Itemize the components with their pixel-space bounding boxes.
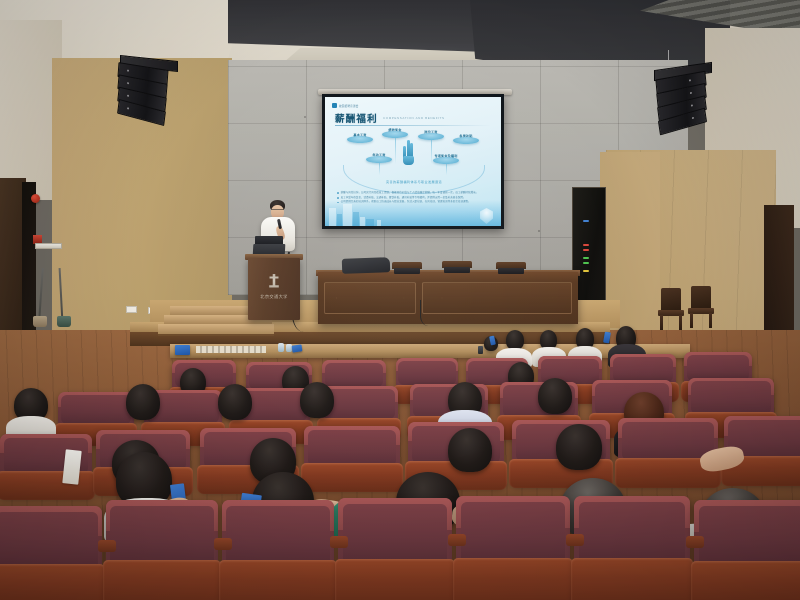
speaker-indicator bbox=[692, 117, 694, 119]
chair-leg bbox=[709, 313, 712, 328]
side-chair[interactable] bbox=[688, 286, 714, 328]
rack-led-indicator bbox=[583, 249, 589, 251]
seat[interactable] bbox=[106, 500, 218, 600]
seat-cushion bbox=[691, 381, 770, 413]
seat-frame bbox=[219, 560, 337, 600]
slide-bullet-text: 薪酬与岗位挂钩，公司实行岗位绩效工资制，根据岗位价值与个人绩效确定薪酬，每一年度… bbox=[341, 191, 479, 194]
line-array-speaker-left bbox=[118, 58, 178, 124]
stage-step bbox=[158, 324, 274, 336]
recruitment-brochure[interactable] bbox=[292, 344, 303, 352]
seat-cushion bbox=[226, 506, 329, 566]
rack-led-indicator bbox=[583, 244, 589, 246]
table-panel-inlay bbox=[441, 288, 553, 308]
wall-sign bbox=[35, 243, 62, 249]
slide-logo: 校园招聘宣讲会 bbox=[332, 103, 359, 108]
seat-cushion bbox=[398, 361, 455, 385]
seat-frame bbox=[0, 471, 95, 500]
wall-fixing-dot bbox=[538, 230, 540, 232]
bullet-marker-icon bbox=[337, 197, 339, 199]
seat-cushion bbox=[461, 502, 566, 565]
hand-pointer-graphic bbox=[403, 139, 417, 165]
chair-seat bbox=[498, 268, 524, 274]
diagram-node-shape bbox=[418, 133, 444, 140]
head-hair bbox=[538, 378, 572, 414]
diagram-node-shape bbox=[347, 136, 373, 143]
presentation-slide: 校园招聘宣讲会 薪酬福利 COMPENSATION AND BENEFITS 基… bbox=[325, 97, 501, 226]
equipment-bag bbox=[342, 257, 390, 274]
head-hair bbox=[448, 428, 492, 472]
skyline-building bbox=[353, 212, 359, 226]
wall-socket[interactable] bbox=[126, 306, 137, 313]
seat-cushion bbox=[579, 502, 686, 565]
head-hair bbox=[506, 330, 524, 350]
audience-member bbox=[556, 424, 602, 470]
broom-head bbox=[33, 316, 47, 327]
rack-led-indicator bbox=[583, 270, 589, 272]
speaker-indicator bbox=[689, 79, 691, 81]
head-hair bbox=[556, 424, 602, 470]
wall-fixing-dot bbox=[304, 116, 306, 118]
seat[interactable] bbox=[618, 418, 718, 484]
speaker-indicator bbox=[691, 104, 693, 106]
table-panel bbox=[422, 282, 572, 314]
diagram-connector bbox=[431, 140, 432, 164]
slide-divider bbox=[335, 125, 491, 126]
slide-subtitle: COMPENSATION AND BENEFITS bbox=[383, 116, 445, 120]
rack-led-indicator bbox=[583, 262, 589, 264]
broom-handle bbox=[38, 268, 44, 320]
seat[interactable] bbox=[338, 498, 452, 600]
diagram-node: 绩效奖金 bbox=[382, 127, 408, 138]
seat-frame bbox=[691, 561, 800, 600]
seat-frame bbox=[571, 558, 693, 600]
head-hair bbox=[300, 382, 334, 418]
table-panel-inlay bbox=[336, 288, 405, 308]
seat-cushion bbox=[110, 506, 213, 566]
seat-frame bbox=[103, 560, 221, 600]
audience-member bbox=[538, 378, 572, 414]
line-array-speaker-right bbox=[652, 66, 714, 132]
skyline-building bbox=[337, 214, 342, 226]
right-rear-door[interactable] bbox=[764, 205, 794, 335]
skyline-building bbox=[343, 204, 352, 226]
recruitment-brochure[interactable] bbox=[175, 345, 190, 355]
seat-cushion bbox=[622, 422, 714, 460]
chair-leg bbox=[660, 315, 663, 330]
seat-armrest bbox=[214, 538, 232, 550]
chair-back bbox=[691, 286, 711, 310]
speaker-indicator bbox=[127, 95, 129, 97]
audience-member bbox=[218, 384, 252, 420]
diagram-node-shape bbox=[433, 157, 459, 164]
handout-stack bbox=[196, 346, 266, 353]
seat-cushion bbox=[61, 395, 131, 424]
skyline-building bbox=[360, 217, 365, 226]
auditorium-photo: 校园招聘宣讲会 薪酬福利 COMPENSATION AND BENEFITS 基… bbox=[0, 0, 800, 600]
power-cable bbox=[420, 300, 441, 326]
skyline-building bbox=[366, 219, 374, 226]
water-bottle[interactable] bbox=[278, 343, 284, 352]
seat[interactable] bbox=[0, 506, 102, 600]
seat-frame bbox=[453, 558, 573, 600]
slide-footer-skyline bbox=[325, 200, 501, 226]
slide-bullet: 薪酬与岗位挂钩，公司实行岗位绩效工资制，根据岗位价值与个人绩效确定薪酬，每一年度… bbox=[337, 191, 489, 194]
company-logo-icon bbox=[332, 103, 337, 108]
chair-leg bbox=[690, 313, 693, 328]
speaker-indicator bbox=[690, 92, 692, 94]
speaker-indicator bbox=[127, 107, 129, 109]
chair-seat bbox=[444, 267, 470, 273]
seat-cushion bbox=[308, 430, 396, 466]
seat-armrest bbox=[330, 536, 348, 548]
podium: 北京交通大学 bbox=[248, 258, 300, 320]
audience-member bbox=[126, 384, 160, 420]
speaker-indicator bbox=[127, 69, 129, 71]
slide-title: 薪酬福利 bbox=[335, 111, 378, 125]
diagram-node: 基本工资 bbox=[347, 132, 373, 143]
stage-chair[interactable] bbox=[392, 262, 422, 274]
diagram-connector bbox=[395, 138, 396, 164]
diagram-node: 年功工资 bbox=[366, 152, 392, 163]
seat[interactable] bbox=[456, 496, 570, 600]
side-chair[interactable] bbox=[658, 288, 684, 330]
head-hair bbox=[218, 384, 252, 420]
speaker-indicator bbox=[127, 82, 129, 84]
seat-armrest bbox=[686, 536, 704, 548]
audience-member bbox=[448, 428, 492, 472]
diagram-node-shape bbox=[382, 131, 408, 138]
seat[interactable] bbox=[574, 496, 690, 600]
diagram-arc-label: 完善的薪酬福利体系与职业发展通道 bbox=[369, 179, 459, 184]
stage-chair[interactable] bbox=[496, 262, 526, 274]
rack-led-indicator bbox=[583, 257, 589, 259]
slide-bullet-text: 员工享受年终奖金、话费补贴、交通补贴、餐饮补贴、通讯补贴等专项福利，并提供五险一… bbox=[341, 196, 466, 199]
diagram-node-shape bbox=[366, 156, 392, 163]
bullet-marker-icon bbox=[337, 192, 339, 194]
slide-bullet: 员工享受年终奖金、话费补贴、交通补贴、餐饮补贴、通讯补贴等专项福利，并提供五险一… bbox=[337, 196, 489, 199]
footer-emblem-icon bbox=[480, 208, 493, 224]
rack-led-indicator bbox=[583, 220, 589, 222]
seat[interactable] bbox=[222, 500, 334, 600]
diagram-node: 专项奖金及福利 bbox=[433, 153, 459, 164]
seat-frame bbox=[335, 559, 455, 600]
podium-inscription: 北京交通大学 bbox=[252, 294, 296, 300]
presenter-glasses-icon bbox=[271, 209, 284, 212]
chair-seat bbox=[394, 268, 420, 274]
seat-armrest bbox=[566, 534, 584, 546]
seat[interactable] bbox=[304, 426, 400, 488]
diagram-node-shape bbox=[453, 137, 479, 144]
diagram-node: 各类补贴 bbox=[453, 133, 479, 144]
seat-armrest bbox=[98, 540, 116, 552]
slide-logo-text: 校园招聘宣讲会 bbox=[339, 104, 359, 108]
head-hair bbox=[126, 384, 160, 420]
smartphone[interactable] bbox=[478, 346, 483, 354]
seat-cushion bbox=[699, 506, 800, 567]
seat-frame bbox=[301, 463, 403, 492]
table-panel bbox=[324, 282, 416, 314]
skyline-building bbox=[329, 208, 336, 226]
audience-member bbox=[506, 330, 524, 350]
stage-conference-table bbox=[318, 272, 578, 324]
seat[interactable] bbox=[694, 500, 800, 600]
chair-back bbox=[661, 288, 681, 312]
skyline-building bbox=[377, 220, 381, 226]
dustpan-head bbox=[57, 316, 71, 327]
stage-chair[interactable] bbox=[442, 261, 472, 273]
diagram-node: 岗位工资 bbox=[418, 129, 444, 140]
seat-cushion bbox=[343, 504, 448, 565]
audience-member bbox=[300, 382, 334, 418]
seat-frame bbox=[0, 564, 105, 600]
hand-palm bbox=[403, 156, 414, 165]
seat-cushion bbox=[613, 357, 674, 383]
seat-armrest bbox=[448, 534, 466, 546]
fire-alarm-icon bbox=[31, 194, 40, 203]
chair-leg bbox=[679, 315, 682, 330]
seat-cushion bbox=[0, 512, 98, 570]
university-crest-icon bbox=[266, 274, 282, 290]
